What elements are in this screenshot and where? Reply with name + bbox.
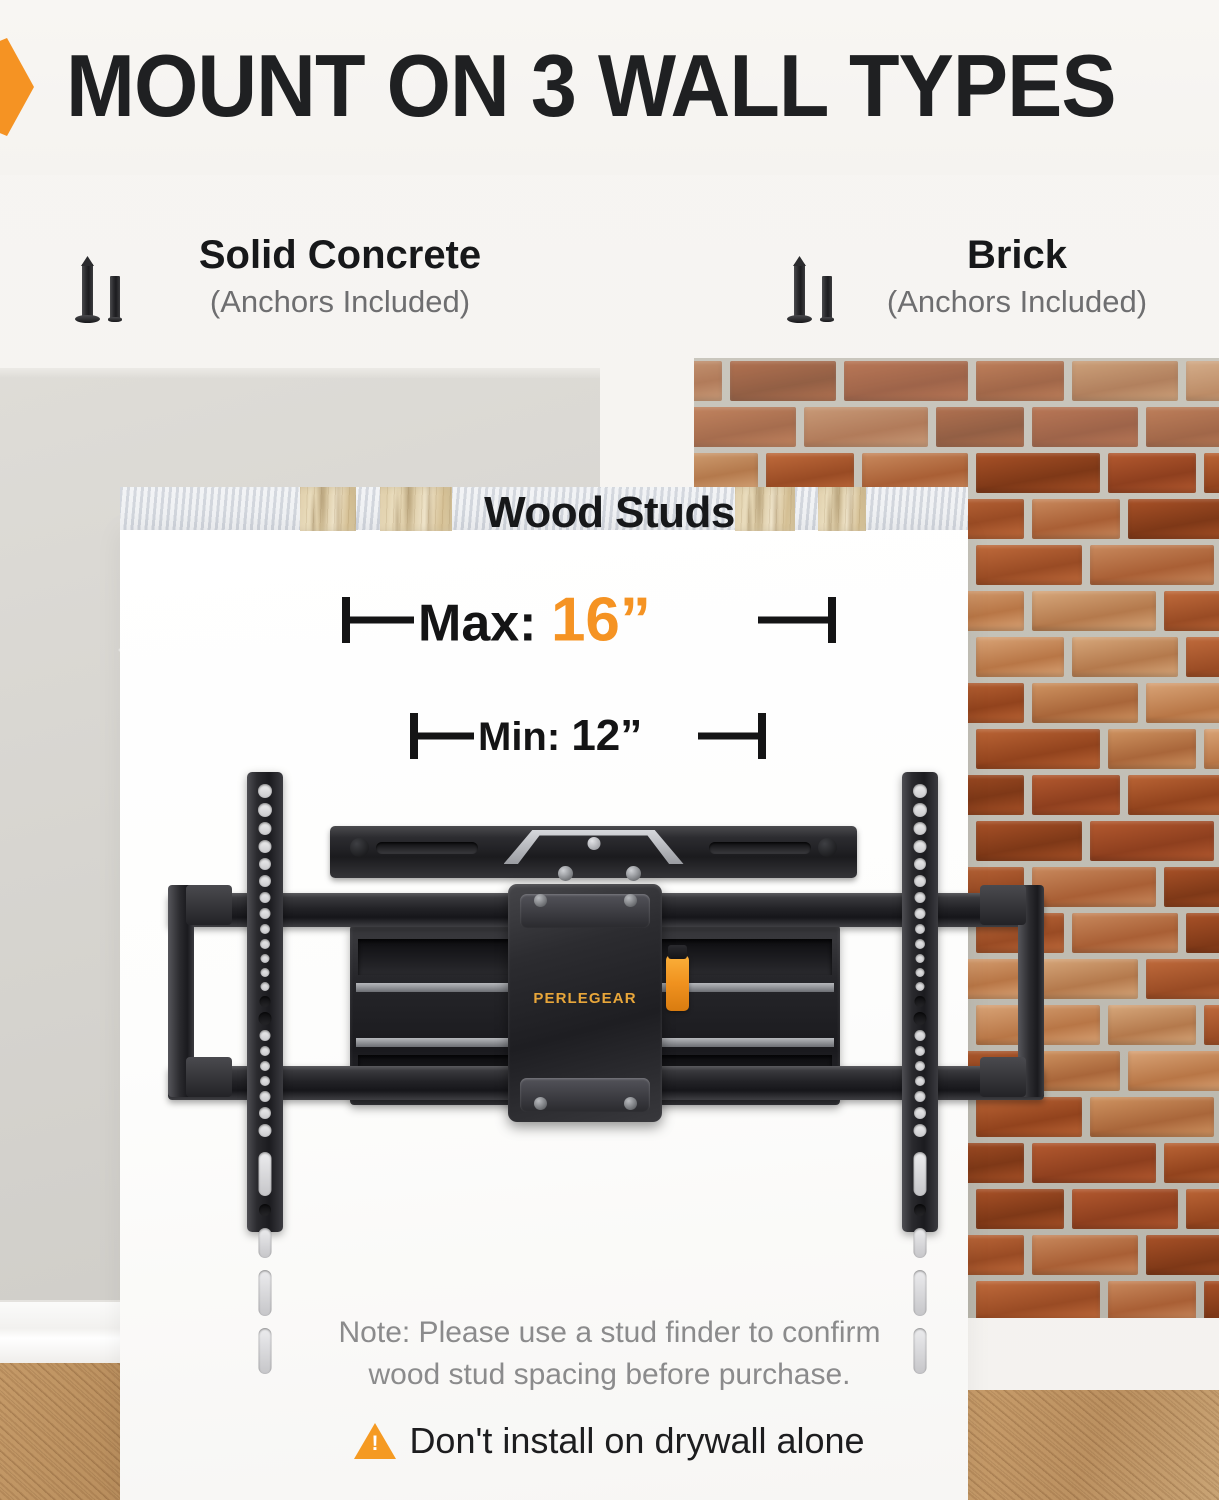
bracket-corner-gusset bbox=[186, 1057, 232, 1097]
brick bbox=[976, 1097, 1082, 1137]
warning-triangle-icon bbox=[354, 1423, 396, 1459]
wall-plate-hole bbox=[259, 1124, 272, 1137]
brick bbox=[1108, 453, 1196, 493]
wall-plate-hole bbox=[260, 892, 271, 903]
wall-plate-hole bbox=[260, 1076, 270, 1086]
wall-plate-hole bbox=[261, 954, 270, 963]
brick bbox=[1146, 407, 1219, 447]
brick bbox=[844, 361, 968, 401]
dimension-min-label: Min: bbox=[478, 715, 560, 759]
wall-plate-hole bbox=[916, 982, 925, 991]
wall-plate-hole bbox=[914, 1012, 927, 1025]
brick bbox=[1164, 1143, 1219, 1183]
wall-plate-slot bbox=[914, 1270, 927, 1316]
wall-plate-hole bbox=[915, 908, 926, 919]
wall-plate-hole bbox=[259, 858, 271, 870]
wall-plate-hole bbox=[260, 1061, 270, 1071]
orange-pull-tag bbox=[666, 955, 689, 1011]
brand-logo-text: PERLEGEAR bbox=[508, 990, 662, 1007]
vesa-screw bbox=[624, 894, 637, 907]
dimension-min-text: Min: 12” bbox=[478, 711, 642, 761]
note-line-1: Note: Please use a stud finder to confir… bbox=[0, 1312, 1219, 1354]
brick bbox=[976, 821, 1082, 861]
wall-plate-hole bbox=[259, 1012, 272, 1025]
dimension-max: Max: 16” bbox=[342, 590, 836, 650]
brick bbox=[1128, 1051, 1219, 1091]
brick bbox=[1186, 1189, 1219, 1229]
wall-plate-hole bbox=[915, 1061, 925, 1071]
header-banner: MOUNT ON 3 WALL TYPES bbox=[0, 0, 1219, 175]
wall-type-label: Brick bbox=[844, 232, 1190, 278]
hexagon-marker-icon bbox=[0, 38, 34, 136]
mount-wall-plate-left bbox=[247, 772, 283, 1232]
wall-plate-hole bbox=[260, 939, 270, 949]
brick bbox=[1186, 913, 1219, 953]
brick bbox=[1108, 1005, 1196, 1045]
vesa-screw bbox=[534, 894, 547, 907]
warning-text: Don't install on drywall alone bbox=[409, 1418, 864, 1464]
dimension-bar-left bbox=[416, 733, 474, 740]
dimension-max-text: Max: 16” bbox=[418, 585, 651, 656]
rail-bolt bbox=[626, 866, 641, 881]
wall-plate-hole bbox=[260, 1046, 270, 1056]
wall-plate-hole bbox=[259, 1107, 271, 1119]
warning-row: Don't install on drywall alone bbox=[0, 1418, 1219, 1464]
dimension-min: Min: 12” bbox=[410, 710, 766, 762]
brick bbox=[1032, 591, 1156, 631]
wall-plate-hole bbox=[914, 1107, 926, 1119]
brick bbox=[936, 407, 1024, 447]
vesa-screw bbox=[624, 1097, 637, 1110]
brick bbox=[1164, 591, 1219, 631]
dimension-bar-left bbox=[348, 617, 414, 624]
page-title: MOUNT ON 3 WALL TYPES bbox=[66, 35, 1116, 137]
wall-plate-screw bbox=[259, 1204, 271, 1216]
wall-plate-hole bbox=[260, 924, 270, 934]
wall-plate-screw bbox=[914, 1204, 926, 1216]
brick bbox=[1146, 683, 1219, 723]
brick bbox=[1090, 821, 1214, 861]
brick bbox=[1032, 683, 1138, 723]
dimension-min-value: 12” bbox=[571, 711, 642, 760]
wall-plate-hole bbox=[916, 954, 925, 963]
wall-plate-hole bbox=[915, 924, 925, 934]
rail-center-screw bbox=[587, 837, 600, 850]
brick-row bbox=[694, 358, 1219, 404]
brick bbox=[1072, 361, 1178, 401]
wall-plate-hole bbox=[260, 1091, 271, 1102]
wall-plate-hole bbox=[915, 1091, 926, 1102]
wall-plate-hole bbox=[914, 822, 927, 835]
mount-left-end-bracket bbox=[168, 885, 236, 1097]
bracket-corner-gusset bbox=[980, 885, 1026, 925]
wall-plate-hole bbox=[916, 968, 925, 977]
brick bbox=[1072, 913, 1178, 953]
brick bbox=[1032, 1051, 1120, 1091]
brick bbox=[1090, 545, 1214, 585]
brick bbox=[1204, 453, 1219, 493]
bracket-corner-gusset bbox=[186, 885, 232, 925]
brick bbox=[694, 407, 796, 447]
mount-wall-plate-right bbox=[902, 772, 938, 1232]
wall-plate-hole bbox=[915, 1046, 925, 1056]
brick bbox=[1204, 729, 1219, 769]
wall-type-brick: Brick (Anchors Included) bbox=[790, 232, 1190, 322]
wall-plate-hole bbox=[914, 1124, 927, 1137]
brick bbox=[1072, 1189, 1178, 1229]
wall-plate-hole bbox=[915, 996, 926, 1007]
wall-plate-hole bbox=[913, 803, 927, 817]
dimension-max-label: Max: bbox=[418, 595, 536, 653]
brick bbox=[1164, 867, 1219, 907]
wall-plate-hole bbox=[914, 858, 926, 870]
mount-right-end-bracket bbox=[976, 885, 1044, 1097]
vesa-screw bbox=[534, 1097, 547, 1110]
wall-plate-hole bbox=[915, 892, 926, 903]
brick bbox=[1072, 637, 1178, 677]
wall-plate-hole bbox=[914, 840, 927, 853]
brick bbox=[976, 361, 1064, 401]
dimension-cap-right bbox=[828, 597, 836, 643]
wall-type-sublabel: (Anchors Included) bbox=[132, 282, 548, 322]
wall-plate-hole bbox=[258, 784, 272, 798]
wood-studs-label: Wood Studs bbox=[0, 488, 1219, 538]
infographic-canvas: MOUNT ON 3 WALL TYPES Solid Concrete (An… bbox=[0, 0, 1219, 1500]
brick bbox=[1032, 1235, 1138, 1275]
brick bbox=[730, 361, 836, 401]
brick bbox=[1032, 959, 1138, 999]
brick bbox=[1204, 1005, 1219, 1045]
brick bbox=[1186, 361, 1219, 401]
note-text: Note: Please use a stud finder to confir… bbox=[0, 1312, 1219, 1396]
rail-slot bbox=[376, 842, 478, 854]
brick bbox=[694, 361, 722, 401]
brick bbox=[976, 1189, 1064, 1229]
brick bbox=[976, 637, 1064, 677]
dimension-bar-right bbox=[698, 733, 760, 740]
wall-plate-slot bbox=[259, 1228, 272, 1258]
brick bbox=[1146, 959, 1219, 999]
wall-plate-hole bbox=[258, 803, 272, 817]
wall-type-label: Solid Concrete bbox=[132, 232, 548, 278]
wall-plate-hole bbox=[259, 875, 271, 887]
wall-plate-hole bbox=[261, 982, 270, 991]
brick bbox=[1186, 637, 1219, 677]
wall-plate-hole bbox=[259, 822, 272, 835]
brick bbox=[1032, 407, 1138, 447]
wall-plate-hole bbox=[915, 939, 925, 949]
dimension-max-value: 16” bbox=[551, 586, 651, 655]
note-line-2: wood stud spacing before purchase. bbox=[0, 1354, 1219, 1396]
brick bbox=[976, 729, 1100, 769]
wall-plate-slot bbox=[259, 1270, 272, 1316]
wall-type-solid-concrete: Solid Concrete (Anchors Included) bbox=[78, 232, 548, 322]
wall-plate-slot bbox=[914, 1228, 927, 1258]
brick bbox=[1128, 775, 1219, 815]
wall-plate-hole bbox=[260, 908, 271, 919]
brick bbox=[1090, 1097, 1214, 1137]
wall-plate-hole bbox=[260, 996, 271, 1007]
brick bbox=[1032, 867, 1156, 907]
dimension-cap-right bbox=[758, 713, 766, 759]
dimension-bar-right bbox=[758, 617, 830, 624]
brick bbox=[1108, 729, 1196, 769]
wall-plate-slot bbox=[914, 1152, 927, 1196]
rail-end-bolt bbox=[818, 838, 837, 857]
wall-plate-hole bbox=[260, 1030, 271, 1041]
brick bbox=[1032, 775, 1120, 815]
wall-type-sublabel: (Anchors Included) bbox=[844, 282, 1190, 322]
wall-plate-hole bbox=[261, 968, 270, 977]
wall-plate-hole bbox=[914, 875, 926, 887]
bracket-corner-gusset bbox=[980, 1057, 1026, 1097]
wall-plate-hole bbox=[913, 784, 927, 798]
brick bbox=[804, 407, 928, 447]
brick-row bbox=[694, 404, 1219, 450]
rail-slot bbox=[709, 842, 811, 854]
mount-top-rail bbox=[330, 826, 857, 878]
rail-bolt bbox=[558, 866, 573, 881]
rail-end-bolt bbox=[350, 838, 369, 857]
brick bbox=[976, 545, 1082, 585]
brick bbox=[976, 453, 1100, 493]
wall-plate-hole bbox=[915, 1030, 926, 1041]
wall-plate-hole bbox=[915, 1076, 925, 1086]
brick bbox=[1032, 1143, 1156, 1183]
brick bbox=[1146, 1235, 1219, 1275]
wall-plate-slot bbox=[259, 1152, 272, 1196]
wall-plate-hole bbox=[259, 840, 272, 853]
